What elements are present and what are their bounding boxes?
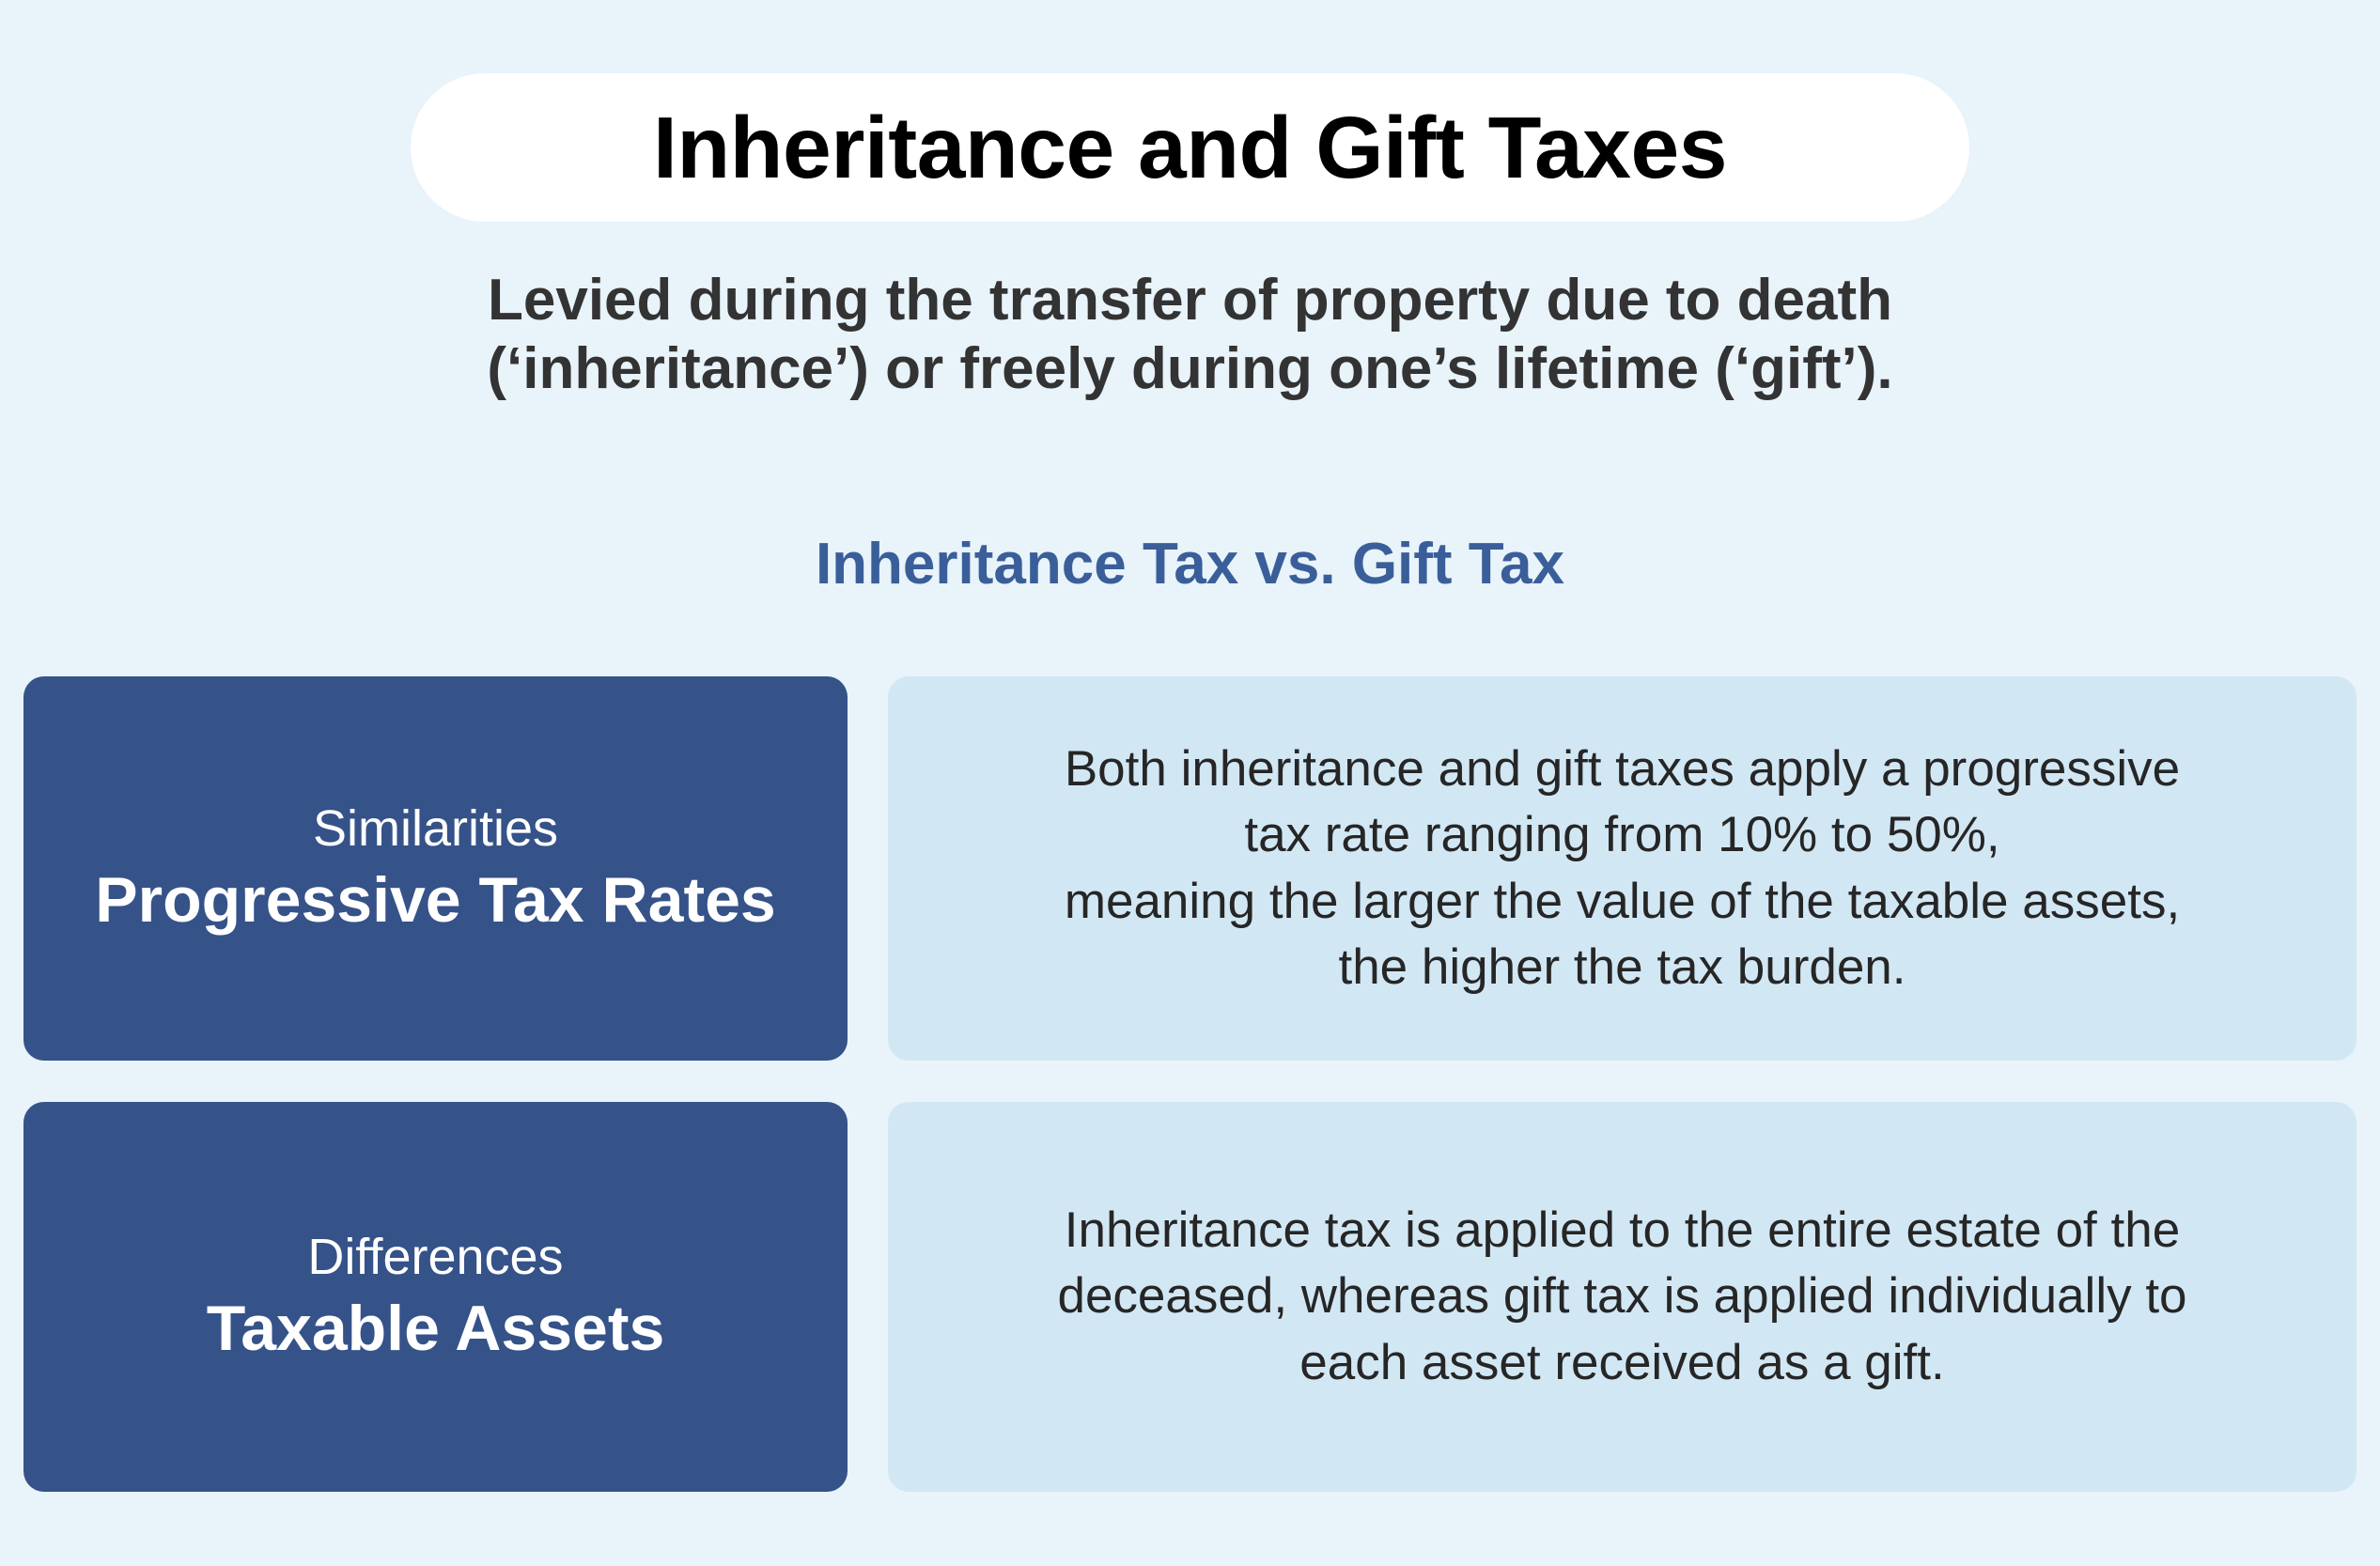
description-line: tax rate ranging from 10% to 50%, <box>1065 802 2180 868</box>
comparison-topic-label: Progressive Tax Rates <box>95 862 775 938</box>
page-subtitle: Levied during the transfer of property d… <box>0 266 2380 403</box>
comparison-kind-label: Similarities <box>313 799 558 861</box>
description-line: meaning the larger the value of the taxa… <box>1065 869 2180 935</box>
section-heading: Inheritance Tax vs. Gift Tax <box>0 535 2380 594</box>
page-title: Inheritance and Gift Taxes <box>653 104 1727 192</box>
comparison-description-text: Inheritance tax is applied to the entire… <box>1057 1198 2186 1396</box>
description-line: Inheritance tax is applied to the entire… <box>1057 1198 2186 1264</box>
comparison-label-card-differences: Differences Taxable Assets <box>23 1102 848 1492</box>
description-line: Both inheritance and gift taxes apply a … <box>1065 736 2180 802</box>
comparison-description-card-differences: Inheritance tax is applied to the entire… <box>888 1102 2357 1492</box>
comparison-description-text: Both inheritance and gift taxes apply a … <box>1065 736 2180 1001</box>
comparison-grid: Similarities Progressive Tax Rates Both … <box>23 676 2357 1492</box>
subtitle-line-2: (‘inheritance’) or freely during one’s l… <box>0 334 2380 403</box>
comparison-topic-label: Taxable Assets <box>207 1291 665 1366</box>
description-line: deceased, whereas gift tax is applied in… <box>1057 1264 2186 1329</box>
title-pill: Inheritance and Gift Taxes <box>411 73 1969 222</box>
description-line: each asset received as a gift. <box>1057 1330 2186 1396</box>
comparison-kind-label: Differences <box>307 1227 563 1289</box>
comparison-label-card-similarities: Similarities Progressive Tax Rates <box>23 676 848 1061</box>
subtitle-line-1: Levied during the transfer of property d… <box>0 266 2380 334</box>
comparison-description-card-similarities: Both inheritance and gift taxes apply a … <box>888 676 2357 1061</box>
description-line: the higher the tax burden. <box>1065 935 2180 1000</box>
